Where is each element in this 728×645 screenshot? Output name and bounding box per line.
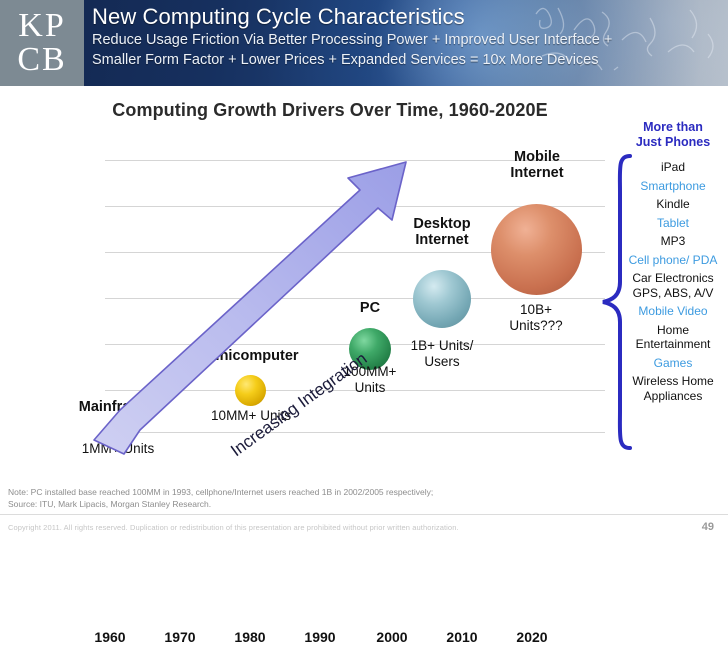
- x-axis-tick-1960: 1960: [75, 629, 145, 645]
- bubble-mobile-internet[interactable]: [491, 204, 582, 295]
- slide-subtitle-line-1: Reduce Usage Friction Via Better Process…: [92, 31, 722, 50]
- list-item: Tablet: [622, 216, 724, 231]
- kpcb-logo: KP CB: [0, 0, 84, 86]
- chart-title: Computing Growth Drivers Over Time, 1960…: [0, 100, 660, 121]
- slide-header: KP CB New Computing Cycle Characteristic…: [0, 0, 728, 86]
- bubble-label-mobile-internet-text: MobileInternet: [510, 149, 563, 181]
- list-item: Smartphone: [622, 179, 724, 194]
- increasing-integration-arrow: Increasing Integration: [90, 148, 420, 458]
- list-item: Home Entertainment: [622, 323, 724, 352]
- x-axis-tick-2020: 2020: [497, 629, 567, 645]
- device-list-panel: More than Just Phones iPad Smartphone Ki…: [622, 120, 724, 407]
- logo-text-cb: CB: [17, 43, 66, 77]
- list-item: Kindle: [622, 197, 724, 212]
- x-axis-tick-2010: 2010: [427, 629, 497, 645]
- bubble-units-mobile-internet: 10B+Units???: [490, 302, 582, 334]
- bubble-label-desktop-internet-text: DesktopInternet: [413, 216, 470, 248]
- device-list-heading-line-2: Just Phones: [622, 135, 724, 150]
- slide-title: New Computing Cycle Characteristics: [92, 4, 722, 30]
- slide-subtitle-line-2: Smaller Form Factor + Lower Prices + Exp…: [92, 51, 722, 70]
- x-axis-tick-1990: 1990: [285, 629, 355, 645]
- footnote-line-1: Note: PC installed base reached 100MM in…: [8, 487, 648, 499]
- list-item: Games: [622, 356, 724, 371]
- list-item: Cell phone/ PDA: [622, 253, 724, 268]
- logo-text-kp: KP: [18, 9, 65, 43]
- bubble-label-mobile-internet: MobileInternet: [487, 149, 587, 181]
- device-list-heading-line-1: More than: [622, 120, 724, 135]
- chart-footnote: Note: PC installed base reached 100MM in…: [8, 487, 648, 510]
- list-item: MP3: [622, 234, 724, 249]
- list-item: Wireless Home Appliances: [622, 374, 724, 403]
- device-list: iPad Smartphone Kindle Tablet MP3 Cell p…: [622, 160, 724, 403]
- list-item: iPad: [622, 160, 724, 175]
- bubble-desktop-internet[interactable]: [413, 270, 471, 328]
- list-item: Mobile Video: [622, 304, 724, 319]
- x-axis-tick-1980: 1980: [215, 629, 285, 645]
- page-number: 49: [702, 521, 714, 533]
- list-item: Car Electronics GPS, ABS, A/V: [622, 271, 724, 300]
- arrow-shape-icon: [90, 148, 420, 458]
- x-axis-tick-1970: 1970: [145, 629, 215, 645]
- header-titles: New Computing Cycle Characteristics Redu…: [92, 4, 722, 70]
- footnote-line-2: Source: ITU, Mark Lipacis, Morgan Stanle…: [8, 499, 648, 511]
- footer-divider: [0, 514, 728, 515]
- x-axis-tick-2000: 2000: [357, 629, 427, 645]
- copyright-notice: Copyright 2011. All rights reserved. Dup…: [8, 523, 568, 532]
